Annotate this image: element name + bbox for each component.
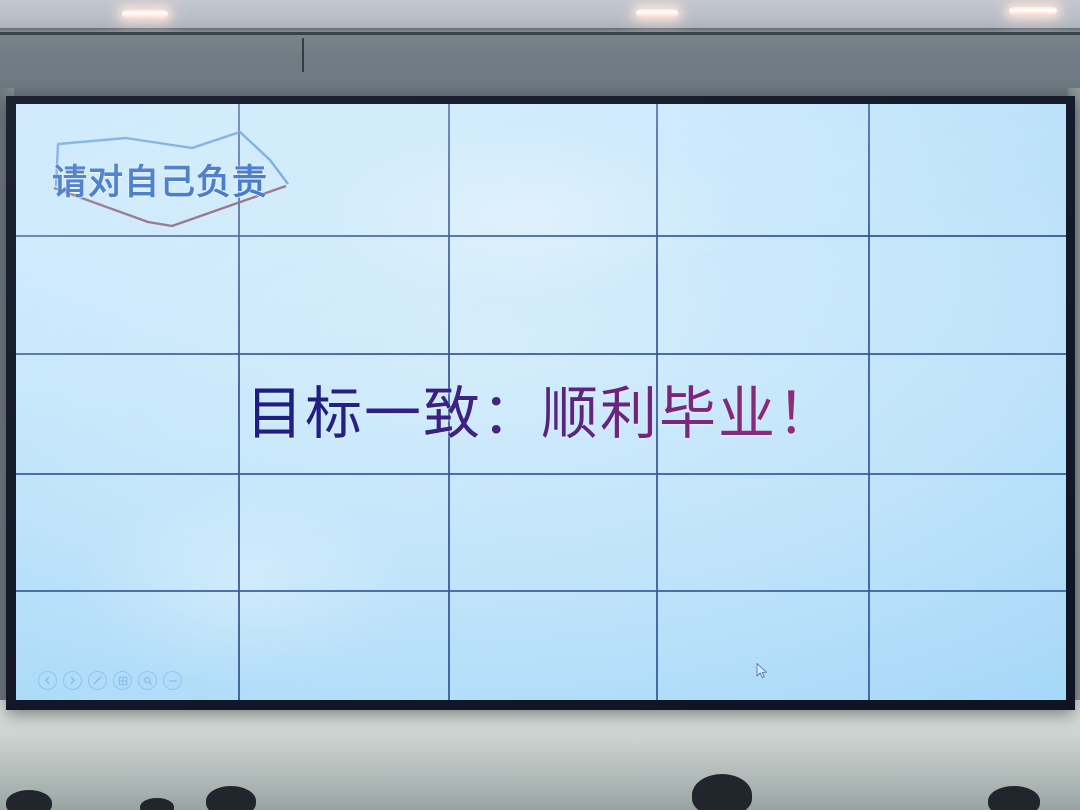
slide-title-block: 请对自己负责	[40, 122, 330, 228]
audience-head	[692, 774, 752, 810]
magnifier-icon	[143, 676, 153, 686]
panel-seam-horizontal	[16, 235, 1066, 237]
audience-head	[206, 786, 256, 810]
ceiling-light-2	[636, 9, 678, 17]
hanging-cable	[302, 38, 304, 72]
chevron-left-icon	[43, 676, 52, 685]
chevron-right-icon	[68, 676, 77, 685]
all-slides-button[interactable]	[113, 671, 132, 690]
ceiling-light-3	[1009, 7, 1057, 15]
ellipsis-icon	[168, 679, 178, 683]
screen-reflection	[76, 484, 416, 684]
zoom-button[interactable]	[138, 671, 157, 690]
more-options-button[interactable]	[163, 671, 182, 690]
slide-main-text: 目标一致：顺利毕业！	[16, 368, 1066, 450]
audience-head	[6, 790, 52, 810]
next-slide-button[interactable]	[63, 671, 82, 690]
grid-icon	[118, 676, 128, 686]
audience-head	[988, 786, 1040, 810]
panel-seam-horizontal	[16, 473, 1066, 475]
ceiling-light-1	[122, 10, 168, 18]
upper-wall	[0, 32, 1080, 100]
video-wall-display[interactable]: 请对自己负责 目标一致：顺利毕业！	[6, 96, 1075, 710]
video-wall-screen[interactable]: 请对自己负责 目标一致：顺利毕业！	[16, 104, 1066, 700]
classroom-scene: 请对自己负责 目标一致：顺利毕业！	[0, 0, 1080, 810]
slide-title: 请对自己负责	[52, 154, 268, 205]
lower-wall	[0, 700, 1080, 810]
panel-seam-horizontal	[16, 353, 1066, 355]
panel-seam-horizontal	[16, 590, 1066, 592]
audience-head	[140, 798, 174, 810]
pen-tool-button[interactable]	[88, 671, 107, 690]
mouse-pointer	[756, 663, 768, 679]
ppt-slideshow-toolbar[interactable]	[38, 671, 182, 690]
previous-slide-button[interactable]	[38, 671, 57, 690]
pen-icon	[92, 675, 103, 686]
screen-reflection	[316, 124, 736, 304]
